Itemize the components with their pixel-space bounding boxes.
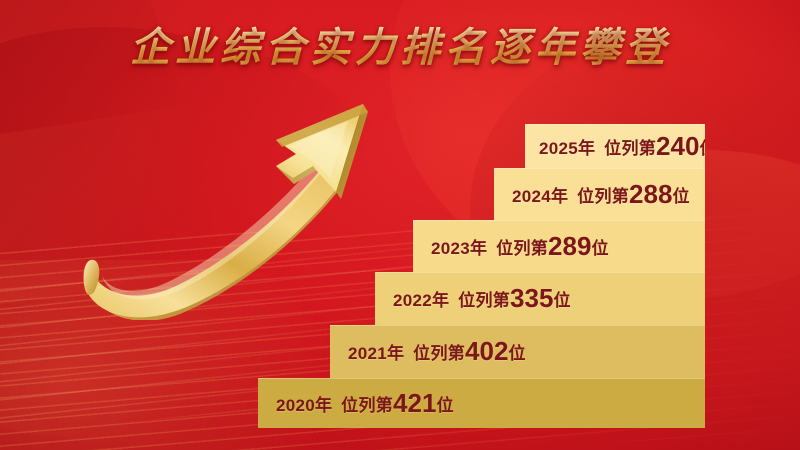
- step-rank-prefix: 位列第: [496, 239, 548, 258]
- step-rank-suffix: 位: [699, 139, 705, 158]
- ranking-step: 2025年 位列第240位: [525, 124, 705, 168]
- step-label: 2025年 位列第240位: [539, 131, 705, 162]
- step-year: 2021年: [348, 344, 404, 363]
- step-rank-prefix: 位列第: [604, 139, 656, 158]
- step-year: 2022年: [393, 291, 449, 310]
- step-rank-suffix: 位: [672, 187, 689, 206]
- step-label: 2021年 位列第402位: [348, 336, 526, 367]
- step-rank-number: 335: [510, 283, 553, 313]
- step-rank-prefix: 位列第: [577, 187, 629, 206]
- ranking-step: 2023年 位列第289位: [413, 220, 705, 272]
- step-year: 2023年: [431, 239, 487, 258]
- step-label: 2023年 位列第289位: [431, 231, 609, 262]
- step-rank-prefix: 位列第: [458, 291, 510, 310]
- step-label: 2024年 位列第288位: [512, 179, 690, 210]
- step-rank-number: 421: [393, 388, 436, 418]
- step-rank-suffix: 位: [508, 344, 525, 363]
- ranking-step: 2021年 位列第402位: [330, 325, 705, 378]
- ranking-staircase: 2025年 位列第240位2024年 位列第288位2023年 位列第289位2…: [0, 0, 800, 450]
- ranking-step: 2020年 位列第421位: [258, 378, 705, 428]
- ranking-step: 2022年 位列第335位: [375, 272, 705, 325]
- step-rank-suffix: 位: [591, 239, 608, 258]
- ranking-poster: 企业综合实力排名逐年攀登: [0, 0, 800, 450]
- step-rank-number: 289: [548, 231, 591, 261]
- step-year: 2025年: [539, 139, 595, 158]
- step-rank-number: 402: [465, 336, 508, 366]
- step-rank-number: 288: [629, 179, 672, 209]
- step-year: 2024年: [512, 187, 568, 206]
- step-rank-prefix: 位列第: [413, 344, 465, 363]
- step-rank-prefix: 位列第: [341, 396, 393, 415]
- step-label: 2022年 位列第335位: [393, 283, 571, 314]
- step-rank-suffix: 位: [553, 291, 570, 310]
- ranking-step: 2024年 位列第288位: [494, 168, 705, 220]
- step-rank-number: 240: [656, 131, 699, 161]
- step-rank-suffix: 位: [436, 396, 453, 415]
- step-label: 2020年 位列第421位: [276, 388, 454, 419]
- step-year: 2020年: [276, 396, 332, 415]
